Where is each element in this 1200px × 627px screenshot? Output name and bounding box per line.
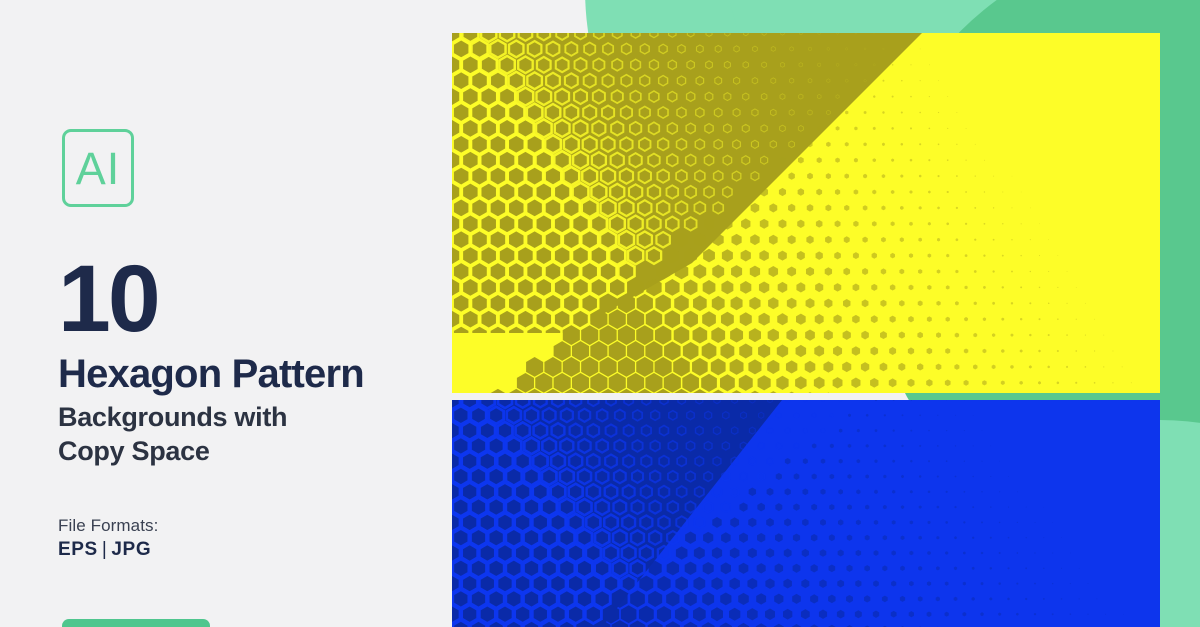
cta-button[interactable] xyxy=(62,619,210,627)
item-count: 10 xyxy=(58,252,158,347)
yellow-hexagon-halftone-card xyxy=(452,33,1160,393)
badge-label: AI xyxy=(76,146,121,191)
banner-canvas: AI 10 Hexagon Pattern Backgrounds with C… xyxy=(0,0,1200,627)
file-formats-value: EPS|JPG xyxy=(58,539,151,561)
page-subtitle-line-1: Backgrounds with xyxy=(58,401,287,435)
file-formats-label: File Formats: xyxy=(58,516,158,536)
blue-halftone-graphic xyxy=(452,400,1160,627)
page-subtitle: Backgrounds with Copy Space xyxy=(58,401,287,469)
file-format-eps: EPS xyxy=(58,539,98,560)
file-format-jpg: JPG xyxy=(111,539,151,560)
adobe-illustrator-badge-icon: AI xyxy=(62,129,134,207)
page-subtitle-line-2: Copy Space xyxy=(58,435,287,469)
page-title: Hexagon Pattern xyxy=(58,354,364,394)
file-format-separator: | xyxy=(98,539,112,560)
yellow-halftone-graphic xyxy=(452,33,1160,393)
info-panel: AI 10 Hexagon Pattern Backgrounds with C… xyxy=(0,0,452,627)
blue-hexagon-halftone-card xyxy=(452,400,1160,627)
